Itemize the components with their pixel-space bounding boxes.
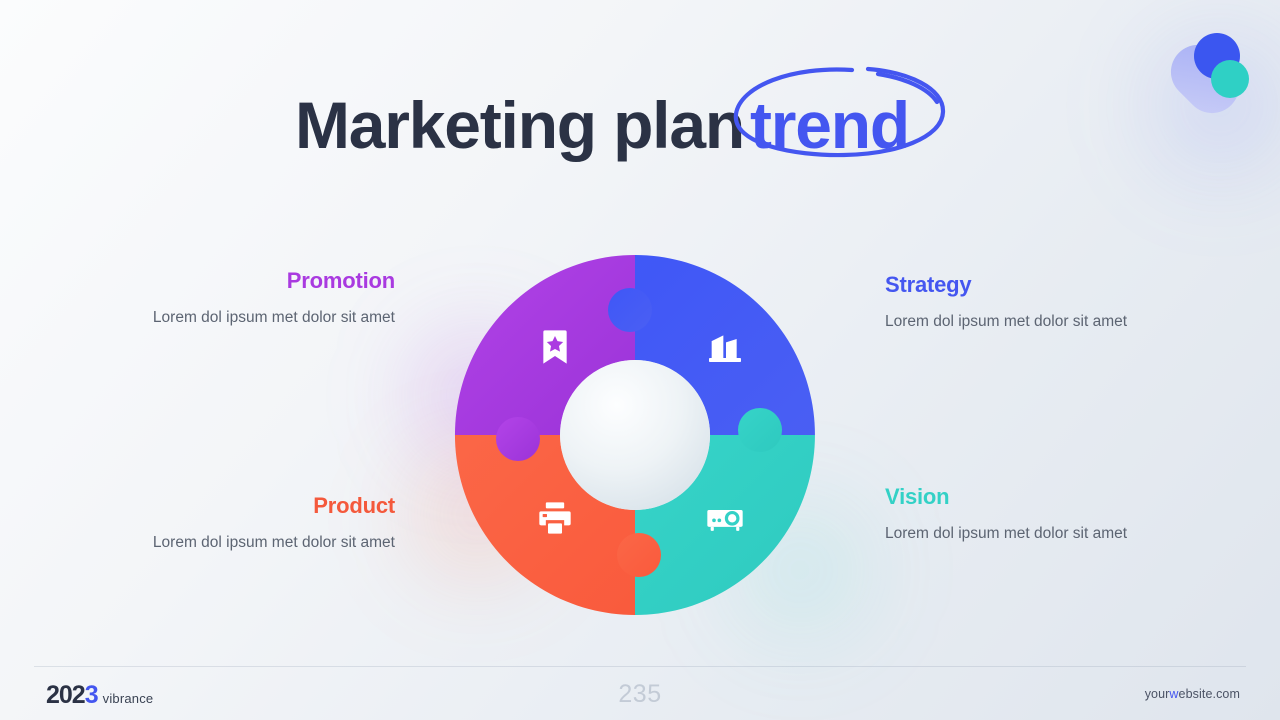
wheel-center-hole [560, 360, 710, 510]
block-body-strategy: Lorem dol ipsum met dolor sit amet [885, 310, 1137, 334]
printer-icon [535, 498, 575, 538]
info-block-vision: Vision Lorem dol ipsum met dolor sit ame… [885, 484, 1137, 546]
info-block-promotion: Promotion Lorem dol ipsum met dolor sit … [143, 268, 395, 330]
page-number: 235 [0, 680, 1280, 709]
footer-website-post: ebsite.com [1179, 687, 1240, 701]
info-block-strategy: Strategy Lorem dol ipsum met dolor sit a… [885, 272, 1137, 334]
title-main-text: Marketing plan [295, 92, 744, 158]
footer-website-pre: your [1145, 687, 1170, 701]
brand-logo-icon [1150, 24, 1260, 134]
block-heading-promotion: Promotion [143, 268, 395, 294]
block-body-product: Lorem dol ipsum met dolor sit amet [143, 531, 395, 555]
projector-icon [705, 498, 745, 538]
bookmark-star-icon [535, 327, 575, 367]
footer-website-accent: w [1169, 687, 1178, 701]
buildings-icon [705, 327, 745, 367]
footer-website[interactable]: yourwebsite.com [1145, 687, 1240, 701]
page-title: Marketing plan trend [295, 82, 909, 168]
info-block-product: Product Lorem dol ipsum met dolor sit am… [143, 493, 395, 555]
title-accent-text: trend [750, 88, 909, 162]
block-heading-product: Product [143, 493, 395, 519]
block-body-vision: Lorem dol ipsum met dolor sit amet [885, 522, 1137, 546]
block-heading-vision: Vision [885, 484, 1137, 510]
wheel-tab-promotion [496, 417, 540, 461]
block-body-promotion: Lorem dol ipsum met dolor sit amet [143, 306, 395, 330]
footer-divider [34, 666, 1246, 667]
wheel-tab-product [617, 533, 661, 577]
title-accent-group: trend [750, 92, 909, 158]
block-heading-strategy: Strategy [885, 272, 1137, 298]
puzzle-wheel-diagram [440, 240, 830, 630]
